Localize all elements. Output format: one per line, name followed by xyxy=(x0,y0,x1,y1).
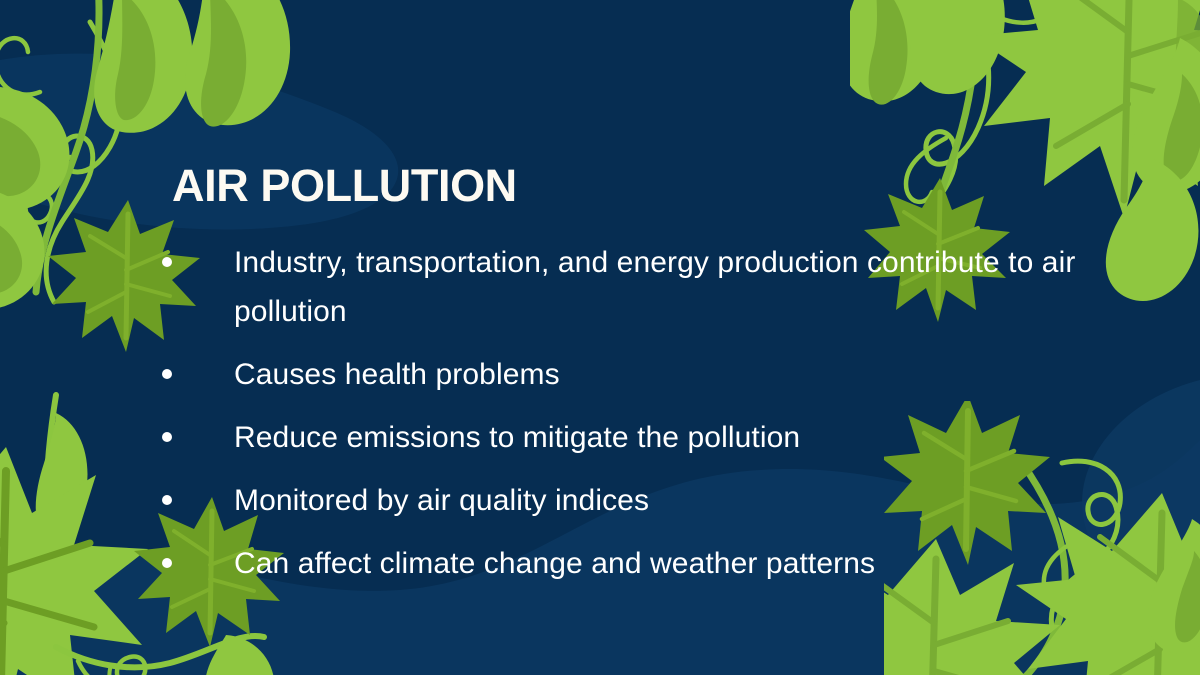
slide-content: AIR POLLUTION Industry, transportation, … xyxy=(0,0,1200,675)
list-item: Industry, transportation, and energy pro… xyxy=(150,238,1090,336)
bullet-marker-icon xyxy=(162,495,172,505)
page-title: AIR POLLUTION xyxy=(172,160,517,212)
bullet-marker-icon xyxy=(162,369,172,379)
list-item-label: Causes health problems xyxy=(234,350,1090,399)
bullet-marker-icon xyxy=(162,257,172,267)
bullet-marker-icon xyxy=(162,432,172,442)
list-item-label: Monitored by air quality indices xyxy=(234,476,1090,525)
list-item: Monitored by air quality indices xyxy=(150,476,1090,525)
list-item: Causes health problems xyxy=(150,350,1090,399)
slide-canvas: AIR POLLUTION Industry, transportation, … xyxy=(0,0,1200,675)
bullet-marker-icon xyxy=(162,558,172,568)
list-item-label: Industry, transportation, and energy pro… xyxy=(234,238,1090,336)
list-item: Reduce emissions to mitigate the polluti… xyxy=(150,413,1090,462)
list-item-label: Reduce emissions to mitigate the polluti… xyxy=(234,413,1090,462)
bullet-list: Industry, transportation, and energy pro… xyxy=(150,238,1090,602)
list-item: Can affect climate change and weather pa… xyxy=(150,539,1090,588)
list-item-label: Can affect climate change and weather pa… xyxy=(234,539,1090,588)
